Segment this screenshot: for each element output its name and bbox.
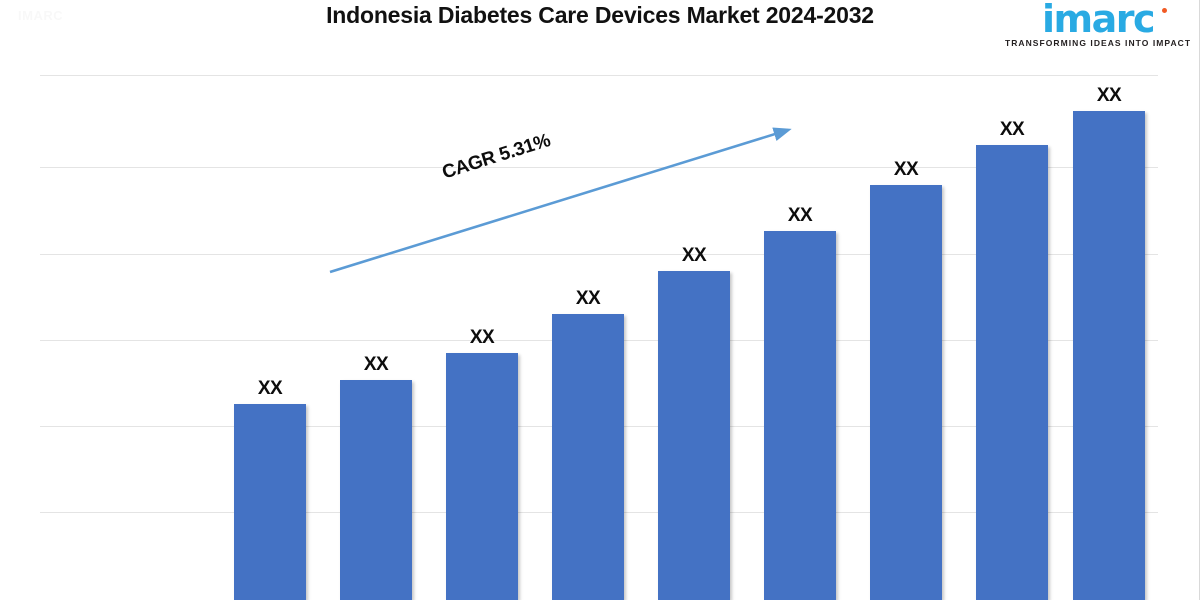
bar-value-label: XX	[764, 205, 836, 227]
bar-value-label: XX	[1073, 85, 1145, 107]
chart-page: IMARC Indonesia Diabetes Care Devices Ma…	[0, 0, 1200, 600]
bar[interactable]	[764, 231, 836, 600]
bar-value-label: XX	[446, 327, 518, 349]
bar-value-label: XX	[870, 159, 942, 181]
bar-value-label: XX	[658, 245, 730, 267]
bar[interactable]	[976, 145, 1048, 600]
gridline	[40, 75, 1158, 76]
bar[interactable]	[340, 380, 412, 600]
bar[interactable]	[552, 314, 624, 600]
bar-value-label: XX	[552, 288, 624, 310]
bar[interactable]	[446, 353, 518, 600]
bar[interactable]	[234, 404, 306, 600]
plot-area: XXXXXXXXXXXXXXXXXX	[0, 0, 1200, 600]
bar-value-label: XX	[340, 354, 412, 376]
bar[interactable]	[870, 185, 942, 600]
bar[interactable]	[1073, 111, 1145, 600]
bar-value-label: XX	[976, 119, 1048, 141]
bar[interactable]	[658, 271, 730, 600]
bar-value-label: XX	[234, 378, 306, 400]
